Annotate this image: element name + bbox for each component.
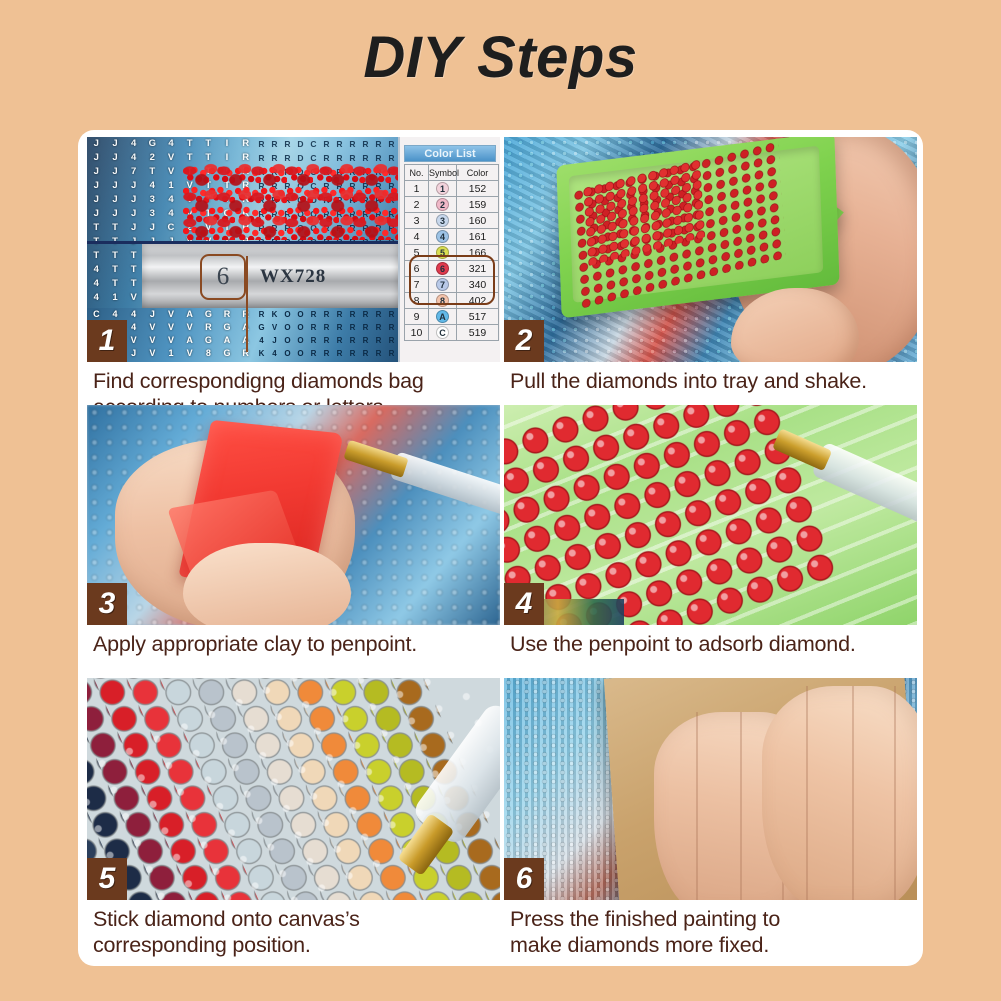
canvas-cell: R <box>268 137 281 151</box>
header-color: Color <box>457 165 499 181</box>
step-6-caption-line1: Press the finished painting to <box>510 906 917 932</box>
step-2-caption: Pull the diamonds into tray and shake. <box>504 362 917 394</box>
canvas-cell: R <box>255 308 268 321</box>
cell-symbol: 5 <box>429 245 457 261</box>
diamond-bag: 6 WX728 <box>142 244 398 308</box>
canvas-cell: J <box>143 308 162 321</box>
canvas-cell: J <box>87 193 106 207</box>
canvas-cell: 8 <box>199 347 218 360</box>
cell-no: 5 <box>405 245 429 261</box>
finger-separator <box>740 712 742 900</box>
canvas-cell: T <box>106 277 125 291</box>
canvas-cell: R <box>333 347 346 360</box>
color-list-title: Color List <box>404 145 496 162</box>
canvas-cell: C <box>162 221 181 235</box>
color-list-row: 22159 <box>405 197 499 213</box>
canvas-cell: R <box>385 308 398 321</box>
cell-color: 519 <box>457 325 499 341</box>
pen-tip <box>772 428 832 471</box>
canvas-cell: J <box>143 221 162 235</box>
cell-no: 4 <box>405 229 429 245</box>
canvas-cell: 4 <box>124 137 143 151</box>
canvas-cell: D <box>294 137 307 151</box>
canvas-cell: 3 <box>143 193 162 207</box>
canvas-cell: R <box>385 347 398 360</box>
step-3-caption-line1: Apply appropriate clay to penpoint. <box>93 631 500 657</box>
canvas-cell: R <box>359 334 372 347</box>
canvas-cell: 4 <box>162 207 181 221</box>
color-list-table: No. Symbol Color 11152221593316044161551… <box>404 164 499 341</box>
step-1-caption-line2: according to numbers or letters. <box>93 394 500 405</box>
color-list-row: 10C519 <box>405 325 499 341</box>
cell-symbol: A <box>429 309 457 325</box>
canvas-cell: R <box>320 321 333 334</box>
canvas-cell: V <box>124 291 143 305</box>
canvas-cell: R <box>236 137 255 151</box>
canvas-cell: J <box>268 334 281 347</box>
cell-symbol: 1 <box>429 181 457 197</box>
canvas-cell: T <box>143 165 162 179</box>
canvas-cell: R <box>333 321 346 334</box>
canvas-cell: 4 <box>255 334 268 347</box>
step-4: 4 Use the penpoint to adsorb diamond. <box>504 405 917 678</box>
finger-separator <box>696 712 698 900</box>
canvas-cell: K <box>255 347 268 360</box>
canvas-cell: J <box>124 221 143 235</box>
right-hand-pressing <box>762 686 917 900</box>
canvas-cell: R <box>320 308 333 321</box>
canvas-cell: O <box>294 334 307 347</box>
canvas-cell: V <box>162 321 181 334</box>
color-list-row: 9A517 <box>405 309 499 325</box>
cell-symbol: C <box>429 325 457 341</box>
canvas-cell: G <box>218 347 237 360</box>
canvas-cell: O <box>281 321 294 334</box>
canvas-cell: 1 <box>162 179 181 193</box>
cell-no: 8 <box>405 293 429 309</box>
cell-color: 152 <box>457 181 499 197</box>
canvas-cell: J <box>87 207 106 221</box>
color-list-row: 66321 <box>405 261 499 277</box>
step-2-photo: 2 <box>504 137 917 362</box>
symbol-dot: 6 <box>436 262 449 275</box>
canvas-cell: J <box>106 193 125 207</box>
step-4-photo: 4 <box>504 405 917 625</box>
symbol-dot: 2 <box>436 198 449 211</box>
step-1-photo: JJ4G4TTIRJJ42VTTIRJJ7TVTTIRJJJ41VTTRJJJ3… <box>87 137 500 362</box>
canvas-cell: R <box>385 321 398 334</box>
step-2-caption-line1: Pull the diamonds into tray and shake. <box>510 368 917 394</box>
step-5: 5 Stick diamond onto canvas’s correspond… <box>87 678 500 961</box>
canvas-cell: R <box>281 137 294 151</box>
cell-symbol: 7 <box>429 277 457 293</box>
step-1-caption: Find correspondigng diamonds bag accordi… <box>87 362 500 405</box>
canvas-cell: 4 <box>87 263 106 277</box>
canvas-cell: A <box>180 308 199 321</box>
callout-line-vertical <box>246 256 248 352</box>
step-4-caption: Use the penpoint to adsorb diamond. <box>504 625 917 657</box>
step-4-caption-line1: Use the penpoint to adsorb diamond. <box>510 631 917 657</box>
symbol-dot: 4 <box>436 230 449 243</box>
canvas-cell: 4 <box>124 308 143 321</box>
symbol-dot: C <box>436 326 449 339</box>
header-no: No. <box>405 165 429 181</box>
step-badge-5: 5 <box>87 858 127 900</box>
canvas-cell: 3 <box>143 207 162 221</box>
canvas-cell: R <box>372 334 385 347</box>
bag-code: WX728 <box>260 266 326 288</box>
color-list-row: 88402 <box>405 293 499 309</box>
step-5-caption: Stick diamond onto canvas’s correspondin… <box>87 900 500 958</box>
canvas-cell: 4 <box>87 277 106 291</box>
canvas-cell: J <box>106 165 125 179</box>
canvas-cell: T <box>124 263 143 277</box>
canvas-cell: R <box>385 334 398 347</box>
canvas-cell: G <box>199 308 218 321</box>
step-5-caption-line1: Stick diamond onto canvas’s <box>93 906 500 932</box>
step-6-caption: Press the finished painting to make diam… <box>504 900 917 958</box>
canvas-cell: C <box>307 137 320 151</box>
step-5-photo: 5 <box>87 678 500 900</box>
canvas-cell: R <box>333 137 346 151</box>
canvas-cell: J <box>87 165 106 179</box>
cell-color: 517 <box>457 309 499 325</box>
canvas-cell: R <box>255 137 268 151</box>
symbol-dot: 8 <box>436 294 449 307</box>
canvas-cell: G <box>218 321 237 334</box>
canvas-cell: R <box>333 308 346 321</box>
canvas-cell: 4 <box>124 151 143 165</box>
canvas-cell: G <box>143 137 162 151</box>
canvas-cell: T <box>180 137 199 151</box>
symbol-dot: A <box>436 310 449 323</box>
canvas-cell: R <box>346 137 359 151</box>
step-6-caption-line2: make diamonds more fixed. <box>510 932 917 958</box>
canvas-cell: K <box>268 308 281 321</box>
canvas-cell: R <box>359 347 372 360</box>
cell-no: 10 <box>405 325 429 341</box>
canvas-cell: R <box>346 308 359 321</box>
canvas-cell: V <box>124 334 143 347</box>
canvas-cell: R <box>346 321 359 334</box>
step-3: 3 Apply appropriate clay to penpoint. <box>87 405 500 678</box>
canvas-cell: V <box>162 334 181 347</box>
canvas-cell: R <box>359 137 372 151</box>
cell-symbol: 2 <box>429 197 457 213</box>
color-list-row: 55166 <box>405 245 499 261</box>
step-3-photo: 3 <box>87 405 500 625</box>
cell-symbol: 4 <box>429 229 457 245</box>
canvas-cell: 1 <box>106 291 125 305</box>
canvas-cell: J <box>124 347 143 360</box>
cell-no: 3 <box>405 213 429 229</box>
cell-no: 2 <box>405 197 429 213</box>
canvas-cell: R <box>333 334 346 347</box>
symbol-dot: 5 <box>436 246 449 259</box>
canvas-cell: G <box>199 334 218 347</box>
canvas-cell: V <box>143 347 162 360</box>
color-list-header-row: No. Symbol Color <box>405 165 499 181</box>
symbol-dot: 1 <box>436 182 449 195</box>
canvas-cell: T <box>124 249 143 263</box>
canvas-cell: R <box>372 308 385 321</box>
color-list-row: 33160 <box>405 213 499 229</box>
canvas-cell: V <box>162 165 181 179</box>
canvas-cell: O <box>281 308 294 321</box>
cell-symbol: 8 <box>429 293 457 309</box>
canvas-cell: 4 <box>143 179 162 193</box>
canvas-cell: R <box>307 308 320 321</box>
canvas-cell: R <box>372 321 385 334</box>
cell-symbol: 6 <box>429 261 457 277</box>
color-list-panel: Color List No. Symbol Color 111522215933… <box>398 137 500 362</box>
canvas-cell: O <box>294 347 307 360</box>
canvas-cell: R <box>372 347 385 360</box>
canvas-cell: T <box>199 137 218 151</box>
step-3-caption: Apply appropriate clay to penpoint. <box>87 625 500 657</box>
canvas-cell: T <box>87 221 106 235</box>
canvas-cell: J <box>106 207 125 221</box>
canvas-cell: J <box>106 151 125 165</box>
canvas-cell: R <box>320 334 333 347</box>
canvas-cell: 4 <box>124 321 143 334</box>
step-2: 2 Pull the diamonds into tray and shake. <box>504 137 917 405</box>
symbol-dot: 7 <box>436 278 449 291</box>
canvas-lower-letters-right: RKOORRRRRRRGVOORRRRRRR4JOORRRRRRRK4OORRR… <box>255 308 398 362</box>
cell-color: 340 <box>457 277 499 293</box>
step-1: JJ4G4TTIRJJ42VTTIRJJ7TVTTIRJJJ41VTTRJJJ3… <box>87 137 500 405</box>
canvas-cell: R <box>320 137 333 151</box>
canvas-cell: A <box>180 334 199 347</box>
cell-color: 402 <box>457 293 499 309</box>
canvas-cell: R <box>218 308 237 321</box>
canvas-cell: J <box>106 137 125 151</box>
color-list-body: 1115222159331604416155166663217734088402… <box>405 181 499 341</box>
canvas-cell: O <box>281 334 294 347</box>
canvas-cell: 2 <box>143 151 162 165</box>
step-badge-2: 2 <box>504 320 544 362</box>
steps-card: JJ4G4TTIRJJ42VTTIRJJ7TVTTIRJJJ41VTTRJJJ3… <box>78 130 923 966</box>
cell-color: 161 <box>457 229 499 245</box>
canvas-cell: R <box>199 321 218 334</box>
canvas-cell: J <box>106 179 125 193</box>
canvas-cell: O <box>281 347 294 360</box>
finger-separator <box>806 686 808 900</box>
canvas-cell: 4 <box>162 137 181 151</box>
color-list-row: 77340 <box>405 277 499 293</box>
cell-no: 6 <box>405 261 429 277</box>
cell-color: 166 <box>457 245 499 261</box>
step-6-photo: e Bool 6 <box>504 678 917 900</box>
canvas-cell: R <box>359 321 372 334</box>
canvas-cell: R <box>346 334 359 347</box>
cell-color: 159 <box>457 197 499 213</box>
steps-grid: JJ4G4TTIRJJ42VTTIRJJ7TVTTIRJJJ41VTTRJJJ3… <box>87 137 914 961</box>
cell-no: 1 <box>405 181 429 197</box>
canvas-cell: T <box>106 249 125 263</box>
canvas-cell: O <box>294 308 307 321</box>
cell-no: 7 <box>405 277 429 293</box>
canvas-cell: A <box>218 334 237 347</box>
step-5-caption-line2: corresponding position. <box>93 932 500 958</box>
canvas-cell: V <box>180 347 199 360</box>
canvas-cell: 7 <box>124 165 143 179</box>
canvas-cell: R <box>307 321 320 334</box>
canvas-cell: R <box>372 137 385 151</box>
finger-separator <box>852 686 854 900</box>
canvas-cell: 4 <box>268 347 281 360</box>
cell-no: 9 <box>405 309 429 325</box>
canvas-cell: T <box>124 277 143 291</box>
canvas-cell: R <box>346 347 359 360</box>
color-list-row: 11152 <box>405 181 499 197</box>
canvas-cell: J <box>87 137 106 151</box>
canvas-cell: J <box>124 207 143 221</box>
canvas-cell: V <box>162 151 181 165</box>
canvas-cell: V <box>143 334 162 347</box>
loose-red-diamonds-overlay <box>183 163 398 243</box>
canvas-cell: R <box>307 334 320 347</box>
canvas-cell: 4 <box>87 291 106 305</box>
page-header: DIY Steps <box>0 24 1001 91</box>
step-6: e Bool 6 Press the finished painting to … <box>504 678 917 961</box>
canvas-cell: V <box>268 321 281 334</box>
canvas-cell: V <box>143 321 162 334</box>
canvas-cell: V <box>180 321 199 334</box>
canvas-cell: J <box>124 193 143 207</box>
bag-number: 6 <box>200 254 246 300</box>
canvas-cell: G <box>255 321 268 334</box>
symbol-dot: 3 <box>436 214 449 227</box>
step-badge-1: 1 <box>87 320 127 362</box>
cell-symbol: 3 <box>429 213 457 229</box>
canvas-cell: I <box>218 137 237 151</box>
page-title: DIY Steps <box>0 24 1001 91</box>
canvas-cell: J <box>87 151 106 165</box>
canvas-cell: J <box>87 179 106 193</box>
cell-color: 321 <box>457 261 499 277</box>
canvas-cell: O <box>294 321 307 334</box>
canvas-cell: R <box>385 137 398 151</box>
step-badge-4: 4 <box>504 583 544 625</box>
finger-separator <box>894 686 896 900</box>
canvas-cell: T <box>106 221 125 235</box>
header-symbol: Symbol <box>429 165 457 181</box>
canvas-cell: R <box>359 308 372 321</box>
canvas-cell: V <box>162 308 181 321</box>
canvas-cell: J <box>124 179 143 193</box>
canvas-cell: R <box>307 347 320 360</box>
pen-tip <box>343 440 408 478</box>
step-badge-6: 6 <box>504 858 544 900</box>
canvas-cell: 4 <box>162 193 181 207</box>
canvas-cell: 1 <box>162 347 181 360</box>
step-badge-3: 3 <box>87 583 127 625</box>
canvas-cell: T <box>106 263 125 277</box>
canvas-cell: R <box>320 347 333 360</box>
cell-color: 160 <box>457 213 499 229</box>
canvas-cell: T <box>87 249 106 263</box>
step-1-caption-line1: Find correspondigng diamonds bag <box>93 368 500 394</box>
color-list-row: 44161 <box>405 229 499 245</box>
